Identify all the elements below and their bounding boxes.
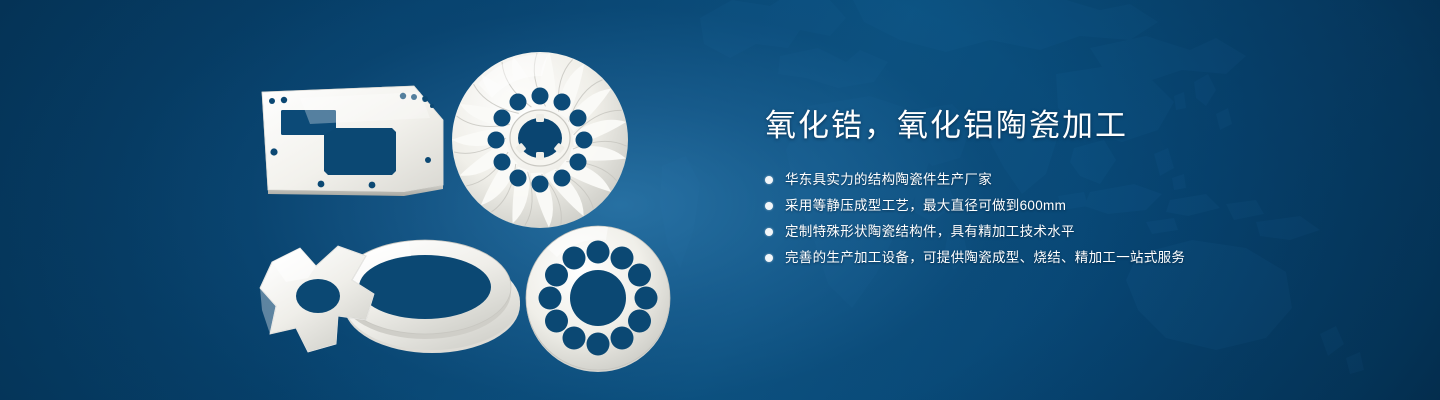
bullet-dot-icon xyxy=(765,202,773,210)
feature-text: 定制特殊形状陶瓷结构件，具有精加工技术水平 xyxy=(785,222,1075,242)
feature-text: 华东具实力的结构陶瓷件生产厂家 xyxy=(785,170,992,190)
list-item: 采用等静压成型工艺，最大直径可做到600mm xyxy=(765,196,1385,216)
feature-text: 完善的生产加工设备，可提供陶瓷成型、烧结、精加工一站式服务 xyxy=(785,248,1185,268)
page-title: 氧化锆，氧化铝陶瓷加工 xyxy=(765,104,1385,148)
ceramic-impeller-disc xyxy=(452,52,628,228)
bullet-dot-icon xyxy=(765,176,773,184)
bullet-dot-icon xyxy=(765,254,773,262)
hero-banner: 氧化锆，氧化铝陶瓷加工 华东具实力的结构陶瓷件生产厂家 采用等静压成型工艺，最大… xyxy=(0,0,1440,400)
ceramic-perforated-disc xyxy=(526,226,670,372)
bullet-dot-icon xyxy=(765,228,773,236)
product-image-group xyxy=(0,0,760,400)
ceramic-plate-with-cutouts xyxy=(262,86,443,196)
list-item: 华东具实力的结构陶瓷件生产厂家 xyxy=(765,170,1385,190)
copy-block: 氧化锆，氧化铝陶瓷加工 华东具实力的结构陶瓷件生产厂家 采用等静压成型工艺，最大… xyxy=(765,104,1385,274)
list-item: 完善的生产加工设备，可提供陶瓷成型、烧结、精加工一站式服务 xyxy=(765,248,1385,268)
feature-text: 采用等静压成型工艺，最大直径可做到600mm xyxy=(785,196,1066,216)
ceramic-cross-plate-and-rings xyxy=(260,240,520,353)
feature-list: 华东具实力的结构陶瓷件生产厂家 采用等静压成型工艺，最大直径可做到600mm 定… xyxy=(765,170,1385,268)
list-item: 定制特殊形状陶瓷结构件，具有精加工技术水平 xyxy=(765,222,1385,242)
